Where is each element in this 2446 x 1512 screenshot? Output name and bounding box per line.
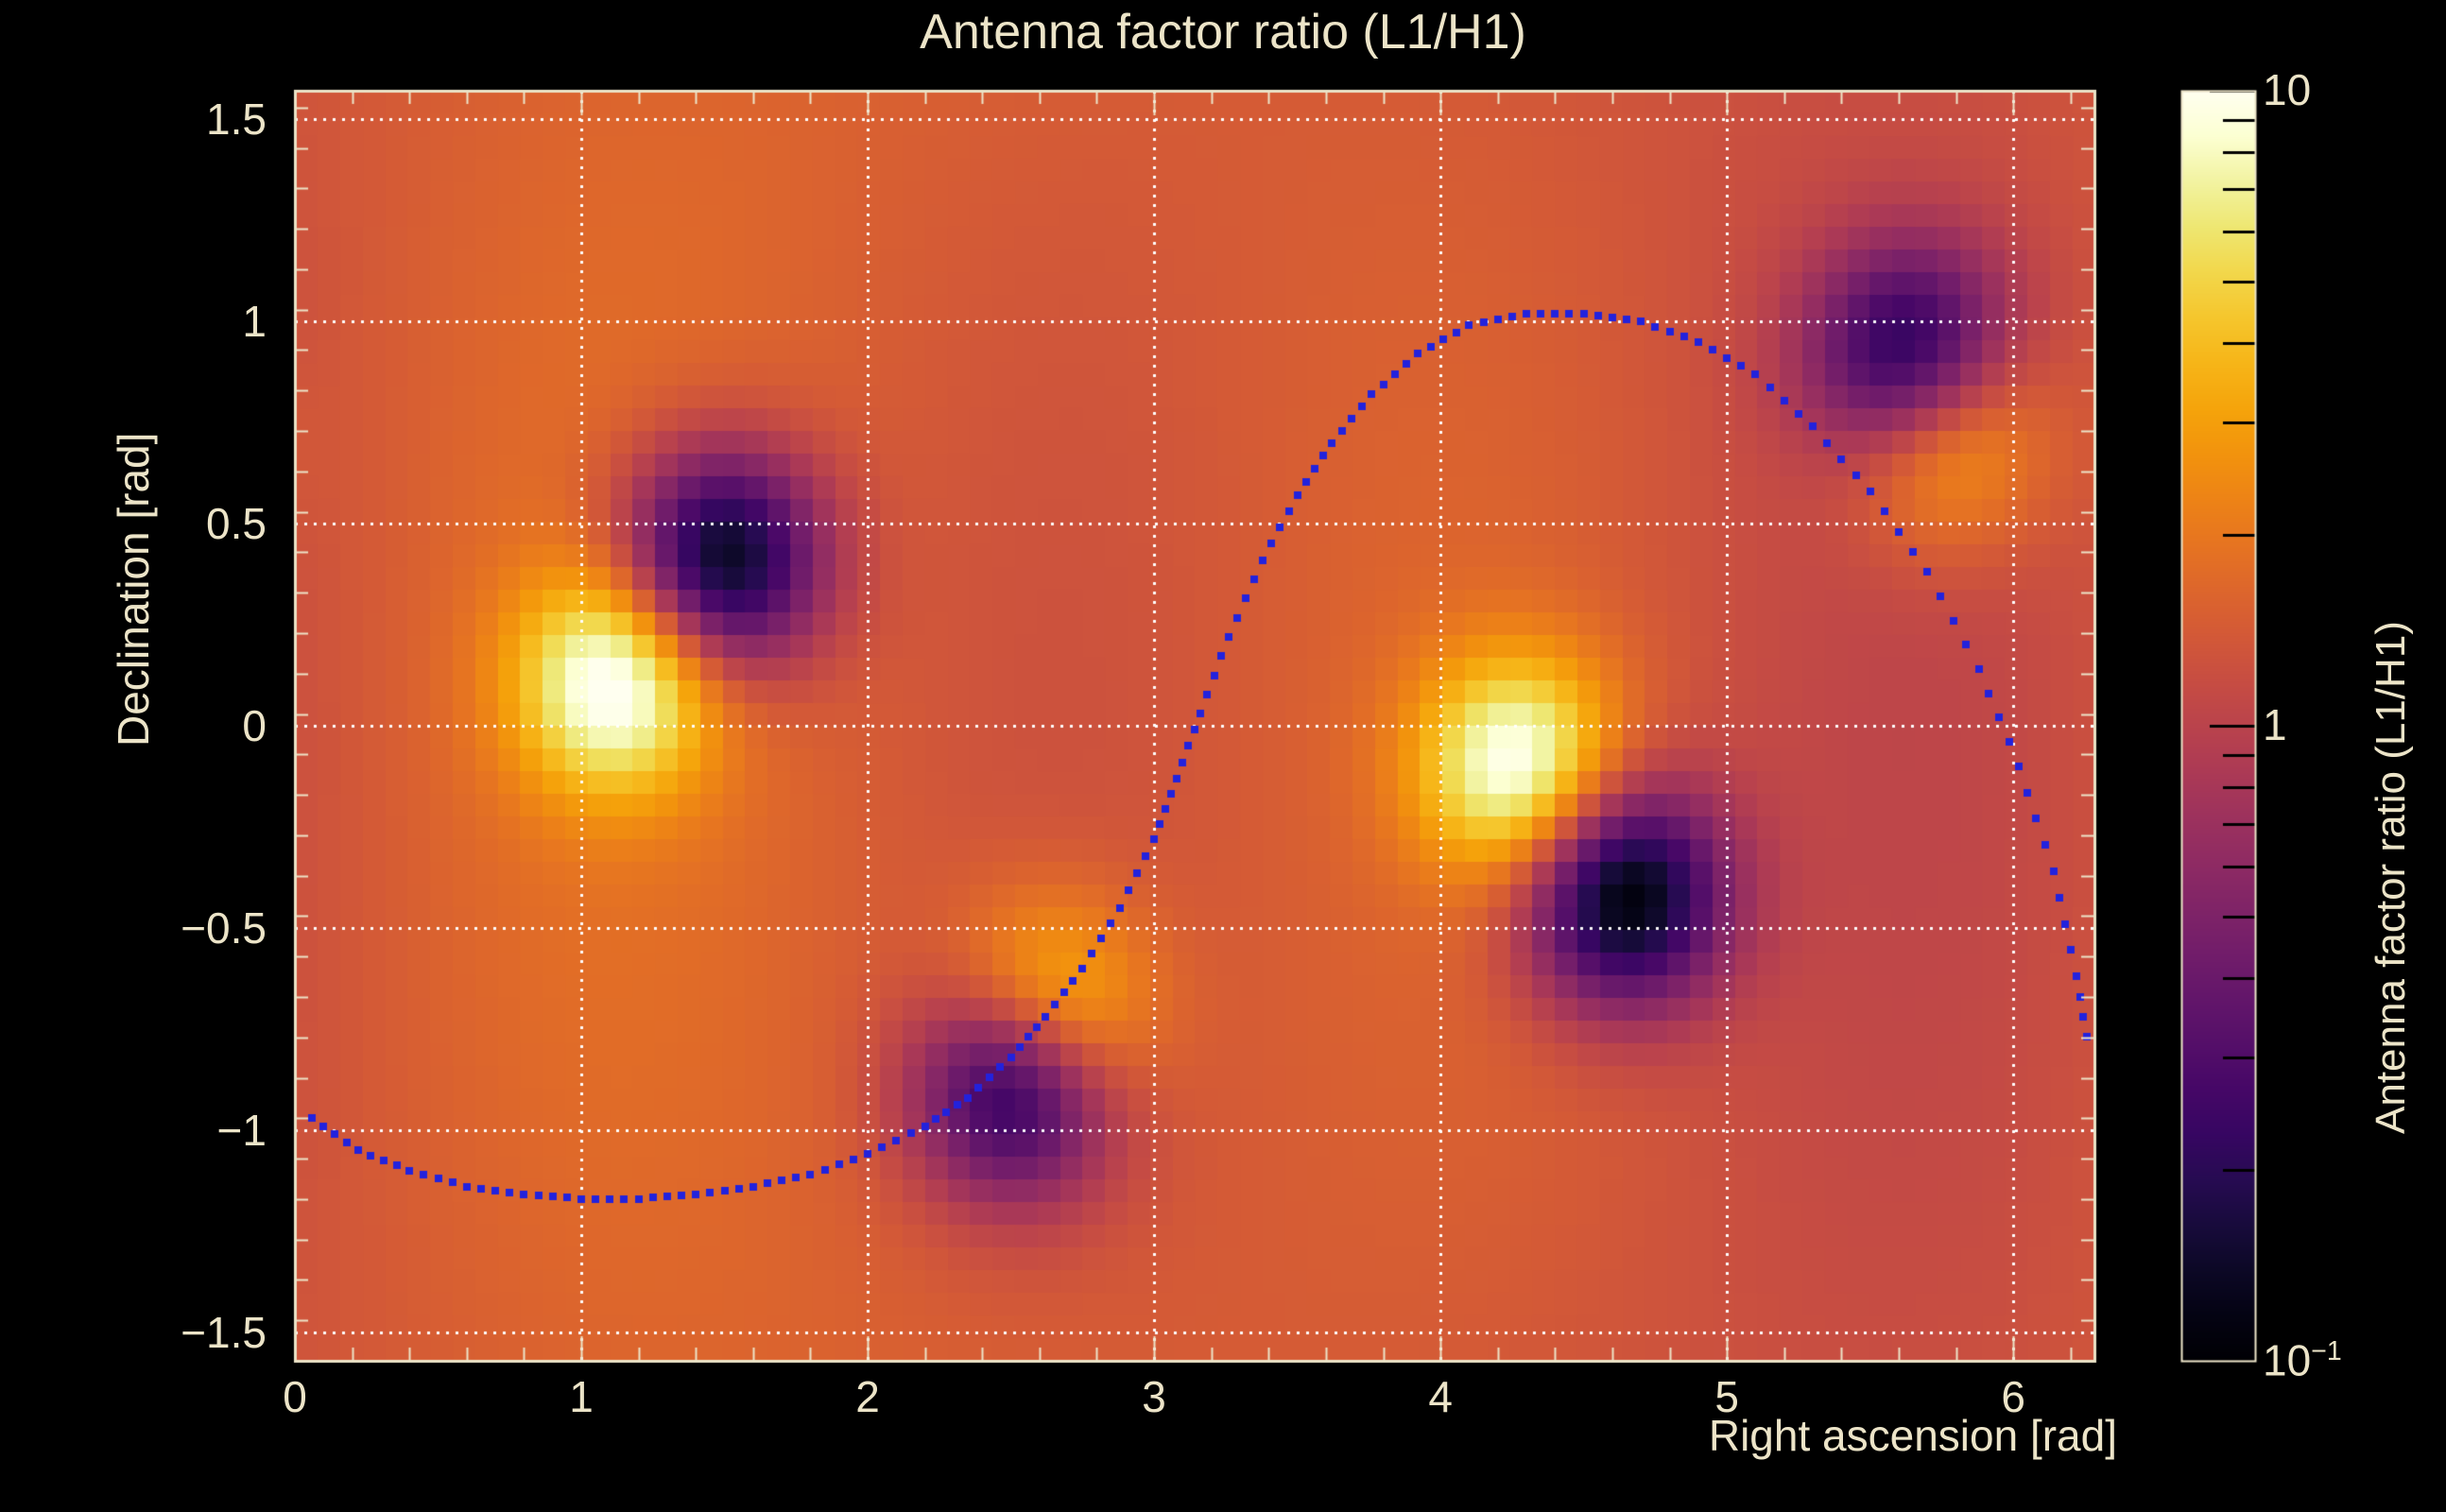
y-tick-label: 0 <box>0 704 267 747</box>
x-tick-label: 5 <box>1632 1375 1821 1418</box>
colorbar-tick-label: 10 <box>2263 68 2311 112</box>
x-tick-label: 1 <box>487 1375 676 1418</box>
colorbar-title: Antenna factor ratio (L1/H1) <box>2370 621 2412 1134</box>
x-tick-label: 2 <box>773 1375 962 1418</box>
colorbar-tick-label: 10−1 <box>2263 1338 2342 1382</box>
page-title: Antenna factor ratio (L1/H1) <box>0 8 2446 57</box>
y-tick-label: 0.5 <box>0 502 267 545</box>
x-tick-label: 6 <box>1919 1375 2108 1418</box>
y-tick-label: 1 <box>0 300 267 343</box>
x-tick-label: 4 <box>1346 1375 1535 1418</box>
colorbar[interactable] <box>2181 91 2255 1361</box>
y-tick-label: −1.5 <box>0 1311 267 1354</box>
y-tick-label: −0.5 <box>0 906 267 950</box>
x-tick-label: 0 <box>200 1375 389 1418</box>
y-tick-label: 1.5 <box>0 97 267 141</box>
y-tick-label: −1 <box>0 1108 267 1152</box>
x-tick-label: 3 <box>1059 1375 1249 1418</box>
colorbar-tick-label: 1 <box>2263 703 2287 747</box>
heatmap-plot-area[interactable] <box>295 91 2094 1361</box>
x-axis-title: Right ascension [rad] <box>0 1414 2117 1457</box>
y-axis-title: Declination [rad] <box>112 433 155 747</box>
